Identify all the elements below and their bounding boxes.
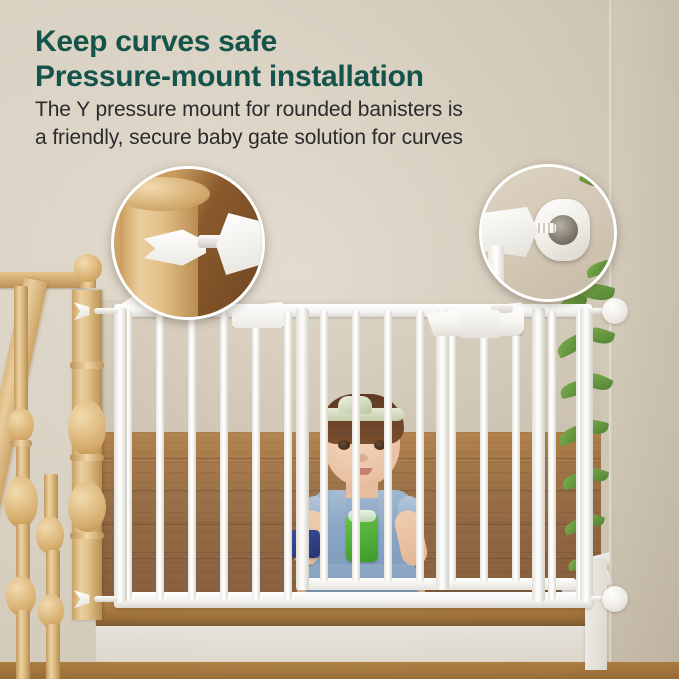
page-title: Keep curves safe Pressure-mount installa… xyxy=(35,25,635,94)
baluster xyxy=(16,524,30,584)
newel-finial xyxy=(74,254,102,282)
callout-right-wall-cup-mount xyxy=(479,164,617,302)
gate-bar xyxy=(188,310,196,600)
gate-bar xyxy=(284,310,292,600)
baluster-bulb xyxy=(8,408,34,442)
headline-line-2: Pressure-mount installation xyxy=(35,60,635,95)
gate-bar xyxy=(156,310,164,600)
gate-hinge-post xyxy=(114,308,127,602)
baluster xyxy=(46,550,60,600)
gate-bar xyxy=(320,310,328,582)
page-subtitle: The Y pressure mount for rounded baniste… xyxy=(35,96,635,153)
callout-left-y-mount-on-banister xyxy=(111,166,265,320)
gate-bar xyxy=(416,310,424,582)
baluster xyxy=(46,624,60,679)
gate-latch-post xyxy=(532,308,545,602)
subheading-line-2: a friendly, secure baby gate solution fo… xyxy=(35,124,635,152)
baluster xyxy=(14,286,28,416)
gate-bottom-left-bolt xyxy=(94,596,118,602)
gate-bar xyxy=(252,310,260,600)
subheading-line-1: The Y pressure mount for rounded baniste… xyxy=(35,96,635,124)
gate-bar xyxy=(220,310,228,600)
callout-right-gate-post xyxy=(488,245,504,295)
gate-bar xyxy=(384,310,392,582)
callout-left-post-cap xyxy=(114,177,210,211)
baby-gate xyxy=(96,296,608,622)
gate-bottom-rail xyxy=(114,592,592,608)
gate-bar xyxy=(548,310,556,600)
gate-door-hinge-post xyxy=(296,308,309,590)
gate-top-right-wall-cup xyxy=(602,298,628,324)
baluster-bulb xyxy=(4,476,38,528)
gate-door-latch-post xyxy=(436,310,449,590)
gate-door-hinge-housing xyxy=(460,310,500,338)
gate-bar xyxy=(352,310,360,582)
baluster-bulb xyxy=(38,594,64,628)
baluster xyxy=(16,610,30,679)
headline-line-1: Keep curves safe xyxy=(35,25,635,60)
product-marketing-image: Keep curves safe Pressure-mount installa… xyxy=(0,0,679,679)
gate-bar xyxy=(512,310,520,582)
gate-end-post xyxy=(580,308,593,602)
gate-bar xyxy=(448,310,456,582)
gate-bottom-right-wall-cup xyxy=(602,586,628,612)
baluster-bulb xyxy=(36,516,64,554)
gate-bar xyxy=(480,310,488,582)
